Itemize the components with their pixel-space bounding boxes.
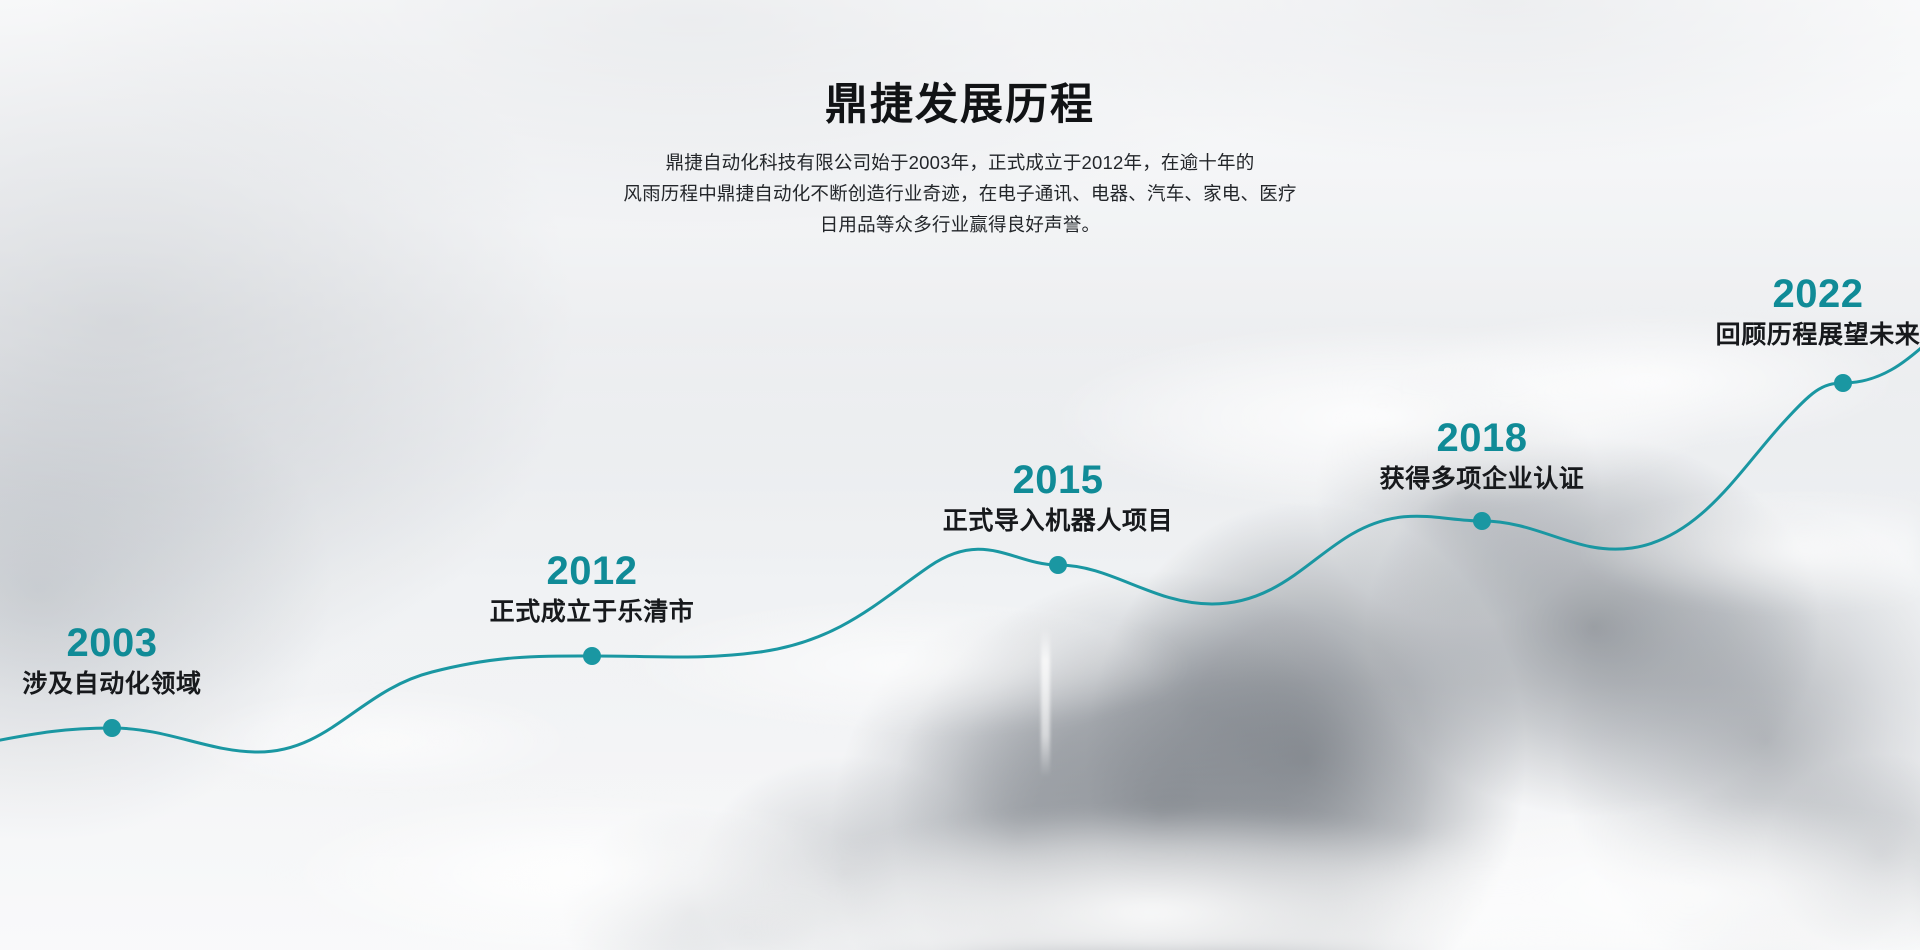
timeline-node-2018[interactable] [1473, 512, 1491, 530]
milestone-2015[interactable]: 2015正式导入机器人项目 [943, 460, 1173, 536]
intro-paragraph-line-1: 鼎捷自动化科技有限公司始于2003年，正式成立于2012年，在逾十年的 [560, 147, 1360, 178]
milestone-description: 涉及自动化领域 [22, 670, 201, 699]
milestone-year-label: 2003 [22, 623, 201, 663]
milestone-2018[interactable]: 2018获得多项企业认证 [1380, 418, 1585, 494]
milestone-description: 正式成立于乐清市 [490, 598, 695, 627]
milestone-description: 回顾历程展望未来 [1716, 321, 1920, 350]
timeline-node-2015[interactable] [1049, 556, 1067, 574]
milestone-year-label: 2015 [943, 460, 1173, 500]
milestone-description: 获得多项企业认证 [1380, 465, 1585, 494]
milestone-description: 正式导入机器人项目 [943, 507, 1173, 536]
header-block: 鼎捷发展历程 鼎捷自动化科技有限公司始于2003年，正式成立于2012年，在逾十… [0, 82, 1920, 240]
intro-paragraph-line-2: 风雨历程中鼎捷自动化不断创造行业奇迹，在电子通讯、电器、汽车、家电、医疗 [560, 178, 1360, 209]
timeline-node-group [103, 374, 1852, 737]
timeline-node-2012[interactable] [583, 647, 601, 665]
milestone-year-label: 2012 [490, 551, 695, 591]
timeline-node-2003[interactable] [103, 719, 121, 737]
milestone-2003[interactable]: 2003涉及自动化领域 [22, 623, 201, 699]
page-title: 鼎捷发展历程 [0, 82, 1920, 129]
milestone-year-label: 2018 [1380, 418, 1585, 458]
milestone-2012[interactable]: 2012正式成立于乐清市 [490, 551, 695, 627]
milestone-year-label: 2022 [1716, 274, 1920, 314]
timeline-infographic: 鼎捷发展历程 鼎捷自动化科技有限公司始于2003年，正式成立于2012年，在逾十… [0, 0, 1920, 950]
timeline-curve [0, 340, 1920, 752]
milestone-2022[interactable]: 2022回顾历程展望未来 [1716, 274, 1920, 350]
intro-paragraph: 鼎捷自动化科技有限公司始于2003年，正式成立于2012年，在逾十年的 风雨历程… [560, 147, 1360, 240]
intro-paragraph-line-3: 日用品等众多行业赢得良好声誉。 [560, 209, 1360, 240]
timeline-node-2022[interactable] [1834, 374, 1852, 392]
